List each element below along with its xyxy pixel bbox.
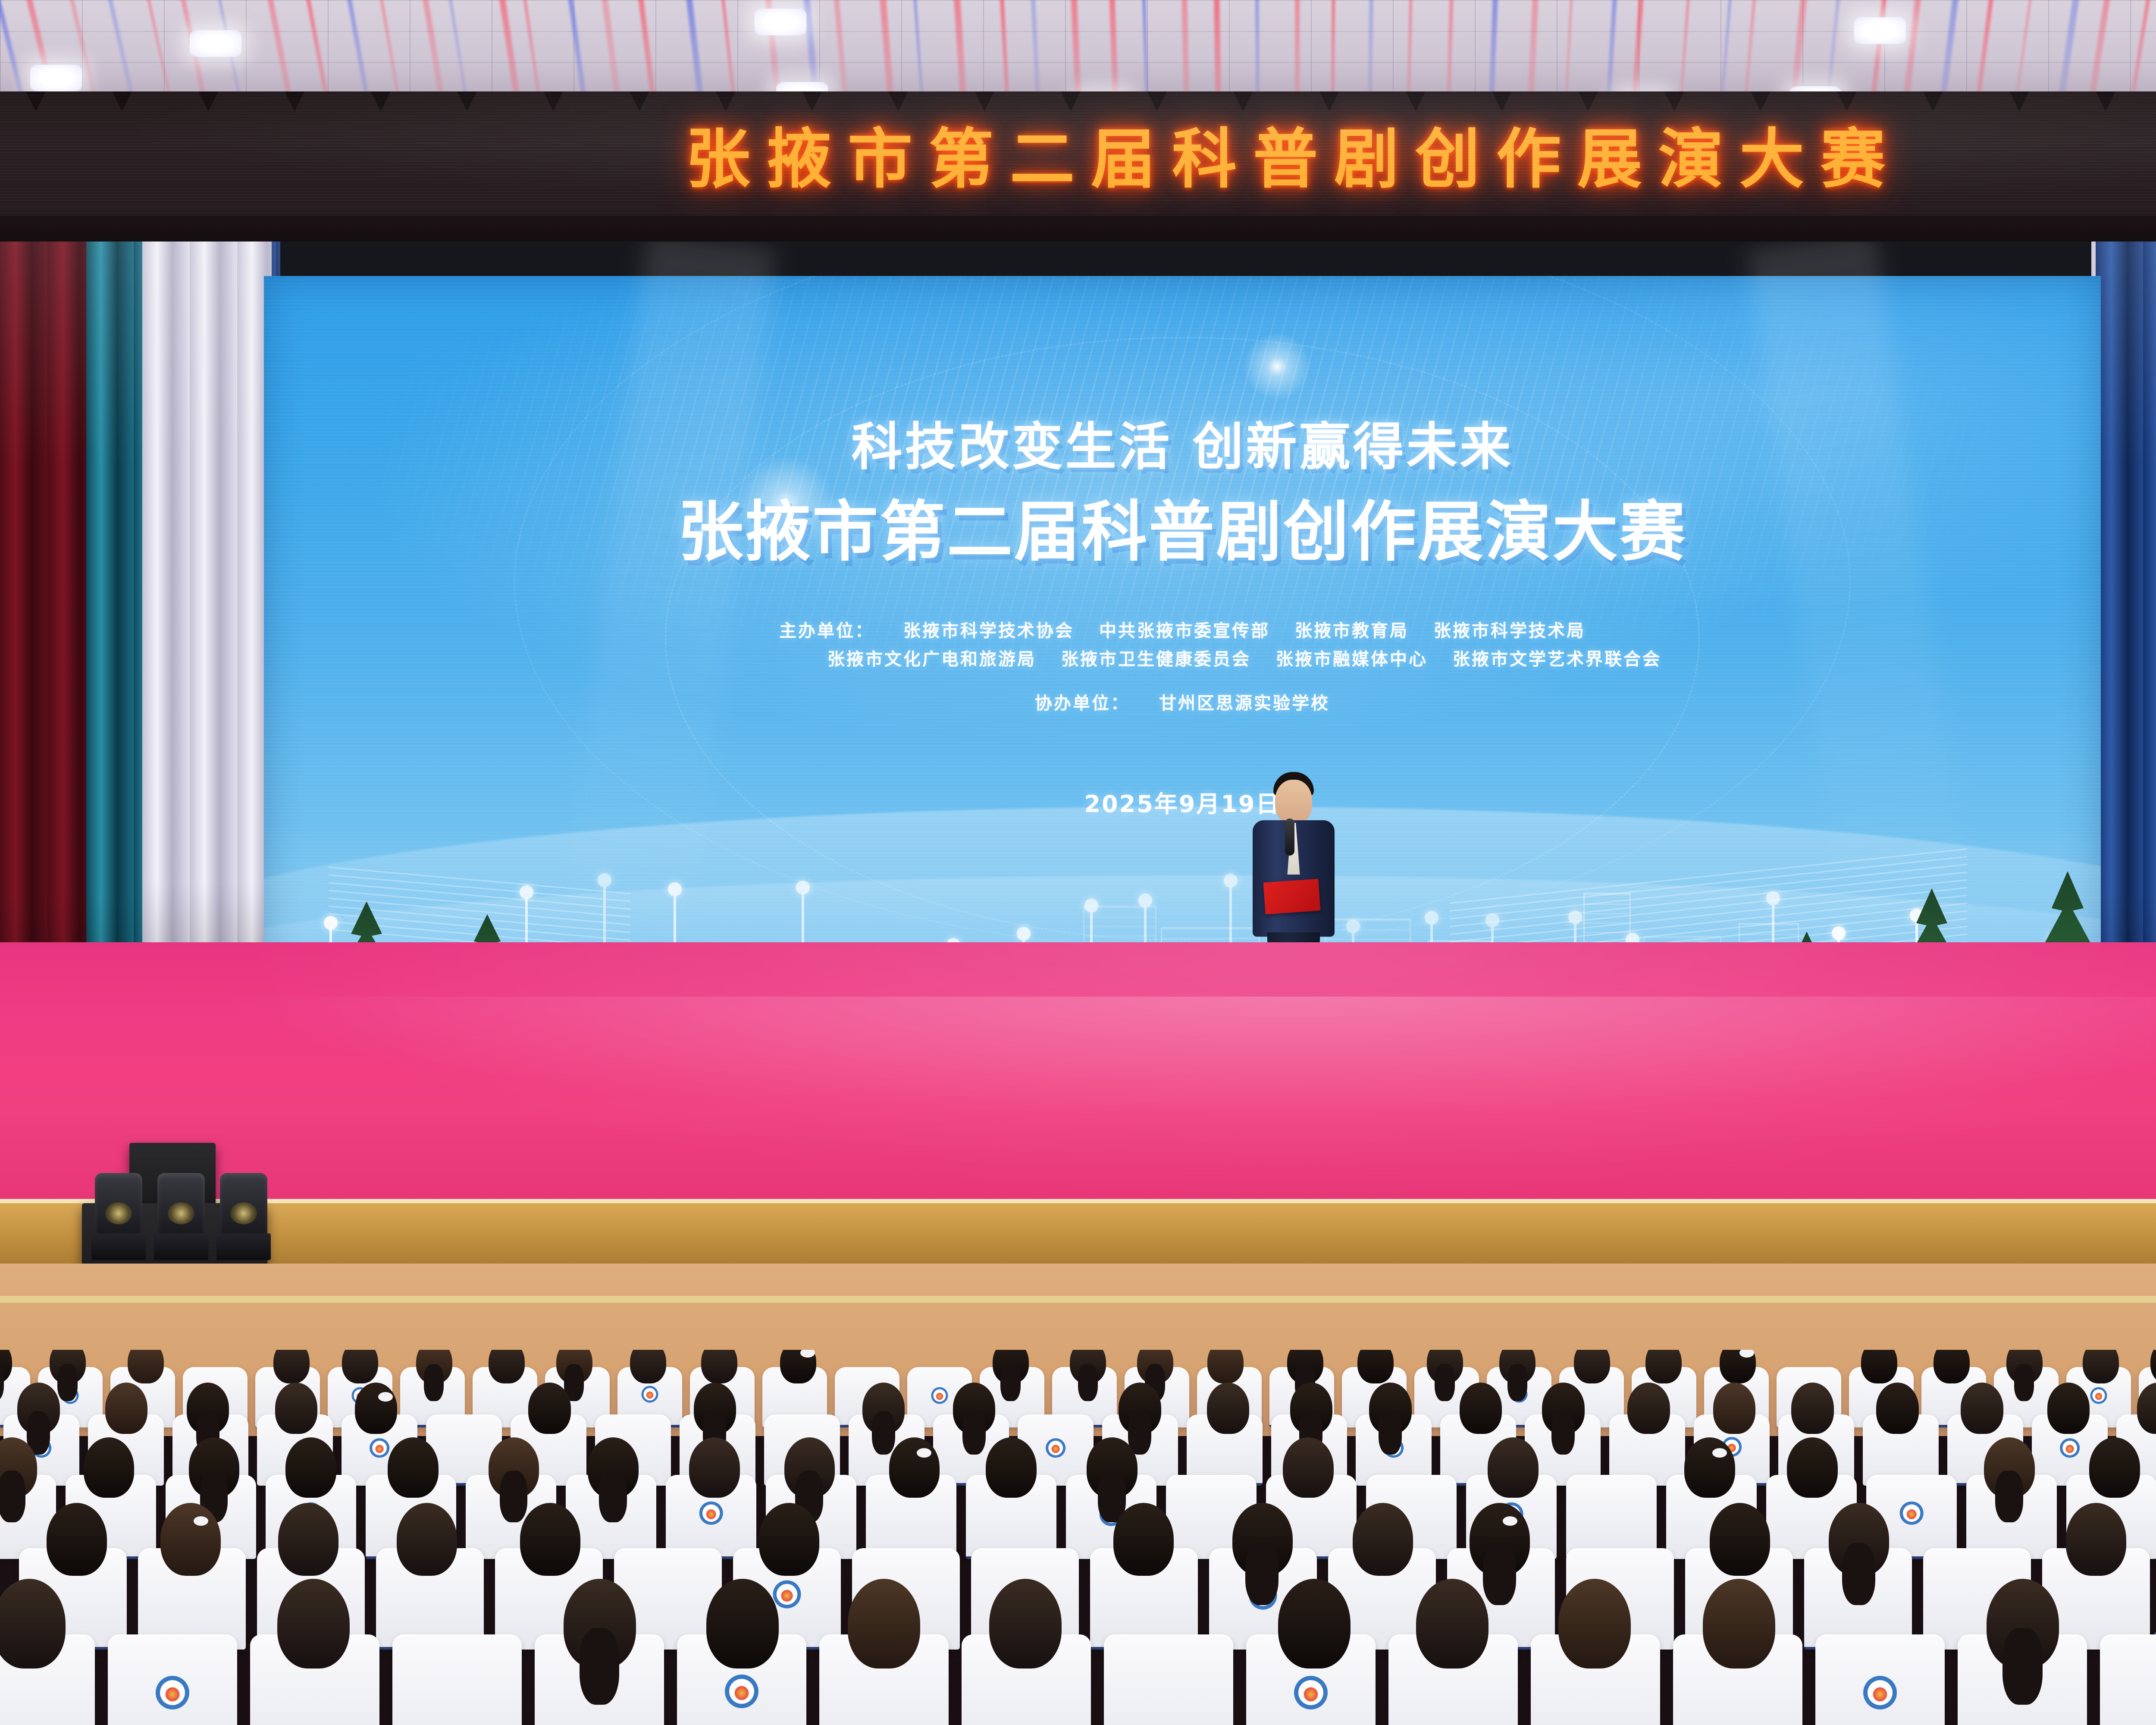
audience-head: [1574, 1350, 1610, 1383]
audience-head: [489, 1350, 525, 1383]
audience-head: [2047, 1383, 2090, 1434]
audience-head: [1353, 1503, 1413, 1576]
audience-head: [1113, 1503, 1174, 1576]
audience-ponytail: [2014, 1364, 2034, 1401]
audience-head: [285, 1437, 336, 1498]
audience-seat: [392, 1634, 522, 1725]
seat-school-emblem: [773, 1580, 801, 1608]
screen-main-title: 张掖市第二届科普剧创作展演大赛: [264, 479, 2101, 574]
stage-apron: [0, 1203, 2156, 1268]
audience-head: [1787, 1437, 1838, 1498]
audience-ponytail: [2002, 1628, 2042, 1704]
audience-head: [1627, 1383, 1670, 1434]
organizer-0: 张掖市科学技术协会: [903, 617, 1074, 642]
audience-head: [278, 1503, 338, 1576]
audience-head: [1791, 1383, 1834, 1434]
moving-head-base-0-1: [154, 1233, 208, 1260]
audience-ponytail: [1842, 1543, 1875, 1605]
auditorium-ceiling: [0, 0, 2156, 99]
stage-floor-sheen: [207, 997, 2156, 1117]
event-photo-scene: 张掖市第二届科普剧创作展演大赛 科技改变生活 创新赢得未来: [0, 0, 2156, 1725]
audience-ponytail: [0, 1471, 25, 1522]
audience-head: [397, 1503, 457, 1576]
organizer-row-1: 主办单位： 张掖市科学技术协会 中共张掖市委宣传部 张掖市教育局 张掖市科学技术…: [779, 617, 1586, 642]
audience-head: [47, 1503, 107, 1576]
coorganizer-label: 协办单位：: [1035, 689, 1134, 714]
audience-head: [1207, 1383, 1250, 1434]
organizer-3: 张掖市科学技术局: [1434, 617, 1586, 642]
audience-head: [355, 1383, 398, 1434]
moving-head-base-0-2: [216, 1233, 271, 1260]
moving-head-light-0-2: [220, 1173, 267, 1238]
audience-seat: [108, 1634, 237, 1725]
audience-ponytail: [1551, 1411, 1575, 1455]
audience-head: [277, 1579, 350, 1669]
moving-head-light-0-1: [157, 1173, 205, 1238]
audience-head: [1278, 1579, 1351, 1669]
audience-head: [273, 1350, 310, 1383]
audience-head: [1861, 1350, 1897, 1383]
screen-slogan: 科技改变生活 创新赢得未来: [264, 405, 2101, 479]
seat-school-emblem: [156, 1676, 189, 1709]
audience-head: [1416, 1579, 1489, 1669]
seat-school-emblem: [2090, 1387, 2107, 1404]
seat-school-emblem: [725, 1675, 758, 1708]
seat-school-emblem: [699, 1501, 723, 1525]
organizer-label: 主办单位：: [779, 617, 878, 642]
audience-ponytail: [1000, 1364, 1020, 1401]
audience-ponytail: [1483, 1543, 1516, 1605]
ceiling-lamp-3: [1854, 17, 1906, 44]
organizer-row-2: 张掖市文化广电和旅游局 张掖市卫生健康委员会 张掖市融媒体中心 张掖市文学艺术界…: [703, 645, 1661, 670]
audience-head: [1934, 1350, 1970, 1383]
audience-head: [275, 1383, 318, 1434]
audience-seat: [2100, 1634, 2156, 1725]
audience-head: [1488, 1437, 1539, 1498]
coorganizer-row: 协办单位： 甘州区思源实验学校: [1035, 689, 1330, 714]
audience-head: [1713, 1383, 1756, 1434]
audience-ponytail: [1245, 1543, 1279, 1605]
audience-head: [2083, 1350, 2119, 1383]
speaker-head: [1275, 780, 1312, 825]
hair-bow: [1503, 1516, 1517, 1526]
audience-head: [84, 1437, 135, 1498]
audience-ponytail: [872, 1411, 895, 1455]
moving-head-light-0-0: [95, 1173, 142, 1238]
audience-head: [701, 1350, 737, 1383]
ceiling-lamp-1: [755, 9, 806, 35]
audience-head: [1460, 1383, 1502, 1434]
ceiling-lamp-0: [190, 30, 241, 57]
audience-ponytail: [1507, 1364, 1527, 1401]
organizer-6: 张掖市融媒体中心: [1276, 645, 1428, 670]
organizer-label-spacer: [703, 649, 802, 669]
ceiling-lamp-7: [30, 65, 82, 91]
audience-ponytail: [1995, 1471, 2023, 1522]
hair-bow: [800, 1350, 815, 1358]
hair-bow: [1712, 1448, 1727, 1458]
audience-head: [2066, 1503, 2126, 1576]
speaker-microphone: [1285, 819, 1294, 856]
audience-head: [689, 1437, 740, 1498]
led-banner-text: 张掖市第二届科普剧创作展演大赛: [0, 107, 2156, 201]
hair-bow: [378, 1392, 393, 1402]
audience-head: [1710, 1503, 1770, 1576]
audience-ponytail: [1078, 1364, 1098, 1401]
organizer-5: 张掖市卫生健康委员会: [1061, 645, 1251, 670]
audience-head: [989, 1579, 1062, 1669]
screen-organizer-block: 主办单位： 张掖市科学技术协会 中共张掖市委宣传部 张掖市教育局 张掖市科学技术…: [264, 617, 2101, 714]
audience-head: [105, 1383, 148, 1434]
coorganizer-0: 甘州区思源实验学校: [1159, 689, 1330, 714]
seat-school-emblem: [931, 1387, 948, 1404]
audience-ponytail: [1435, 1364, 1454, 1401]
organizer-7: 张掖市文学艺术界联合会: [1453, 645, 1661, 670]
audience-head: [528, 1383, 571, 1434]
audience-head: [759, 1503, 819, 1576]
seat-school-emblem: [642, 1386, 658, 1403]
audience-head: [388, 1437, 439, 1498]
speaker-red-card: [1263, 879, 1321, 915]
audience-head: [1645, 1350, 1682, 1383]
audience-head: [520, 1503, 580, 1576]
audience-ponytail: [599, 1471, 627, 1522]
ceiling-streak-red: [1295, 0, 1300, 99]
organizer-2: 张掖市教育局: [1295, 617, 1409, 642]
audience-head: [986, 1437, 1037, 1498]
audience-ponytail: [57, 1364, 77, 1401]
wall-chair-rail: [0, 1296, 2156, 1303]
audience-head: [1558, 1579, 1631, 1669]
organizer-1: 中共张掖市委宣传部: [1099, 617, 1270, 642]
audience-head: [706, 1579, 779, 1669]
seat-school-emblem: [1900, 1501, 1924, 1525]
audience-head: [1961, 1383, 2003, 1434]
audience-ponytail: [1379, 1411, 1402, 1455]
seat-school-emblem: [1046, 1438, 1065, 1458]
audience-head: [630, 1350, 666, 1383]
audience-seating: [0, 1350, 2156, 1725]
audience-head: [342, 1350, 378, 1383]
audience-head: [2089, 1437, 2140, 1498]
audience-ponytail: [962, 1411, 986, 1455]
audience-head: [128, 1350, 164, 1383]
hair-bow: [194, 1516, 208, 1526]
audience-seat: [1566, 1475, 1657, 1559]
led-banner: 张掖市第二届科普剧创作展演大赛: [0, 91, 2156, 221]
audience-head: [1684, 1437, 1735, 1498]
screen-lens-flare-b: [1238, 328, 1316, 405]
audience-head: [1357, 1350, 1394, 1383]
audience-seat: [1104, 1634, 1233, 1725]
seat-school-emblem: [1294, 1676, 1328, 1709]
audience-ponytail: [500, 1471, 528, 1522]
seat-school-emblem: [1863, 1676, 1897, 1709]
seat-school-emblem: [2060, 1438, 2080, 1458]
audience-head: [1283, 1437, 1334, 1498]
audience-ponytail: [580, 1628, 619, 1704]
audience-head: [1703, 1579, 1775, 1669]
audience-ponytail: [424, 1364, 444, 1401]
moving-head-base-0-0: [91, 1233, 146, 1260]
organizer-4: 张掖市文化广电和旅游局: [827, 645, 1036, 670]
audience-head: [1207, 1350, 1244, 1383]
seat-school-emblem: [370, 1438, 389, 1458]
audience-head: [889, 1437, 940, 1498]
audience-head: [160, 1503, 221, 1576]
audience-head: [848, 1579, 920, 1669]
audience-seat: [1815, 1634, 1945, 1725]
screen-event-date: 2025年9月19日: [264, 785, 2101, 819]
audience-head: [1876, 1383, 1919, 1434]
